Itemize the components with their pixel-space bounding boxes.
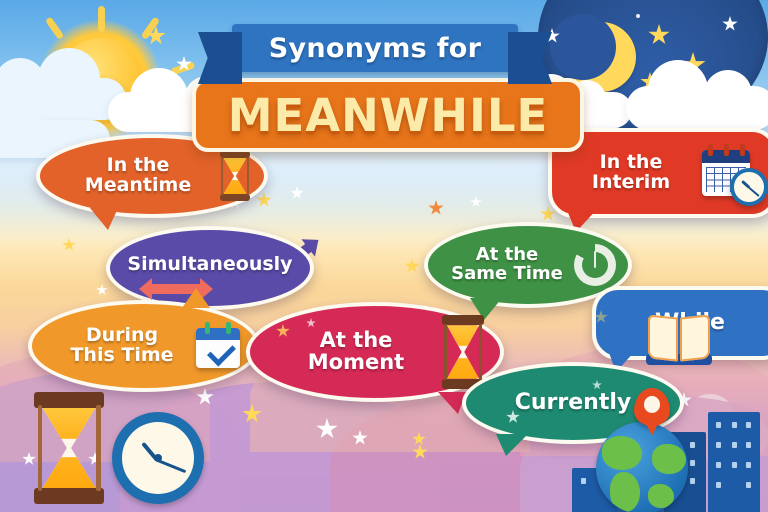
bubble-simultaneously[interactable]: Simultaneously — [106, 226, 314, 310]
ribbon-label: Synonyms for — [269, 33, 481, 64]
bubble-at-the-moment[interactable]: At theMoment — [246, 302, 504, 402]
star-icon — [404, 258, 420, 274]
star-icon — [96, 284, 108, 296]
bubble-label: In theInterim — [560, 153, 702, 193]
bubble-label: At theMoment — [260, 330, 442, 374]
bubble-label: Simultaneously — [127, 255, 292, 275]
headword-text: MEANWHILE — [228, 89, 548, 142]
calendar-check-icon — [196, 324, 242, 368]
clock-icon — [112, 412, 204, 504]
hourglass-icon — [220, 151, 250, 201]
bubble-label: In theMeantime — [50, 156, 220, 196]
cloud-icon — [626, 86, 768, 130]
poster-canvas: Synonyms for MEANWHILE In theMeantime In… — [0, 0, 768, 512]
hourglass-icon — [34, 392, 104, 504]
ribbon-banner: Synonyms for — [232, 24, 518, 72]
globe-icon — [596, 422, 688, 512]
bubble-label: At theSame Time — [436, 246, 574, 283]
timer-icon — [574, 244, 616, 286]
location-pin-icon — [634, 388, 670, 426]
open-book-icon — [648, 316, 710, 360]
bubble-during-this-time[interactable]: DuringThis Time — [28, 300, 260, 392]
hourglass-icon — [442, 315, 484, 389]
calendar-clock-icon — [702, 144, 766, 202]
bubble-label: DuringThis Time — [40, 326, 196, 366]
headword-banner: MEANWHILE — [192, 78, 584, 152]
